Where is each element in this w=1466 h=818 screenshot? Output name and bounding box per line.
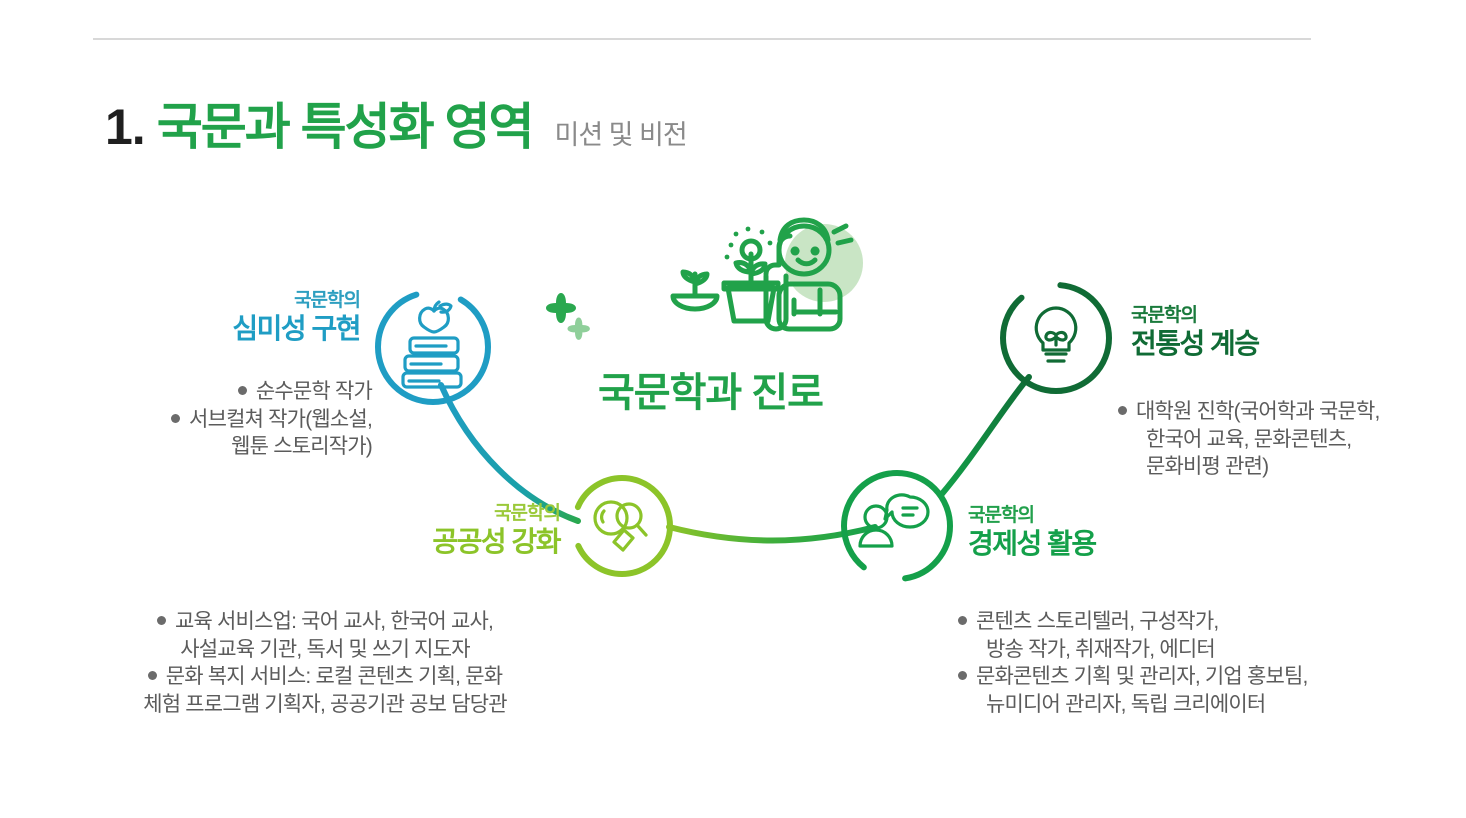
list-item: 서브컬쳐 작가(웹소설, 웹툰 스토리작가) (0, 406, 372, 461)
center-headline: 국문학과 진로 (598, 360, 823, 418)
bullet-dot-icon (958, 616, 967, 625)
list-item-text: 순수문학 작가 (256, 380, 372, 403)
lightbulb-icon (1036, 308, 1076, 361)
motion-line-2 (838, 240, 851, 243)
list-item-text: 교육 서비스업: 국어 교사, 한국어 교사, (175, 610, 493, 633)
list-item-text: 체험 프로그램 기획자, 공공기관 공보 담당관 (70, 691, 580, 719)
potted-flower-icon (724, 241, 778, 321)
list-aesthetic: 순수문학 작가 서브컬쳐 작가(웹소설, 웹툰 스토리작가) (0, 378, 372, 461)
bullet-dot-icon (1118, 406, 1127, 415)
node-label-aesthetic: 국문학의 심미성 구현 (160, 290, 360, 345)
list-public: 교육 서비스업: 국어 교사, 한국어 교사, 사설교육 기관, 독서 및 쓰기… (70, 608, 580, 719)
node-label-aesthetic-big: 심미성 구현 (160, 313, 360, 344)
node-label-public-small: 국문학의 (400, 503, 560, 524)
person-speech-bubble-icon (860, 495, 928, 546)
list-item-text: 문화콘텐츠 기획 및 관리자, 기업 홍보팀, (976, 665, 1308, 688)
list-item-text: 문화 복지 서비스: 로컬 콘텐츠 기획, 문화 (166, 665, 503, 688)
center-illustration (673, 220, 863, 329)
bullet-dot-icon (958, 671, 967, 680)
list-tradition: 대학원 진학(국어학과 국문학, 한국어 교육, 문화콘텐츠, 문화비평 관련) (1118, 398, 1466, 481)
node-label-aesthetic-small: 국문학의 (160, 290, 360, 311)
list-item: 대학원 진학(국어학과 국문학, 한국어 교육, 문화콘텐츠, 문화비평 관련) (1118, 398, 1466, 481)
node-public (574, 478, 670, 574)
node-label-public: 국문학의 공공성 강화 (400, 503, 560, 558)
list-item-text: 웹툰 스토리작가) (0, 433, 372, 461)
sparkle-large-icon (546, 293, 576, 323)
list-item-text: 문화비평 관련) (1118, 453, 1466, 481)
bullet-dot-icon (148, 671, 157, 680)
list-item: 순수문학 작가 (0, 378, 372, 406)
node-label-economy-big: 경제성 활용 (968, 528, 1228, 559)
connector-economy-tradition (941, 377, 1029, 495)
list-item-text: 콘텐츠 스토리텔러, 구성작가, (976, 610, 1218, 633)
node-label-tradition: 국문학의 전통성 계승 (1131, 305, 1391, 360)
bullet-dot-icon (157, 616, 166, 625)
node-label-tradition-big: 전통성 계승 (1131, 328, 1391, 359)
node-label-economy: 국문학의 경제성 활용 (968, 505, 1228, 560)
node-label-public-big: 공공성 강화 (400, 526, 560, 557)
node-tradition (1003, 285, 1109, 391)
sprout-icon (673, 272, 717, 309)
bullet-dot-icon (171, 414, 180, 423)
list-item: 교육 서비스업: 국어 교사, 한국어 교사, 사설교육 기관, 독서 및 쓰기… (70, 608, 580, 663)
list-item-text: 대학원 진학(국어학과 국문학, (1136, 400, 1380, 423)
list-item-text: 방송 작가, 취재작가, 에디터 (958, 636, 1438, 664)
node-label-tradition-small: 국문학의 (1131, 305, 1391, 326)
node-aesthetic (378, 292, 488, 402)
apple-on-books-icon (403, 302, 461, 387)
slide-canvas: 1. 국문과 특성화 영역 미션 및 비전 (0, 0, 1466, 818)
magnifier-icon (595, 502, 646, 550)
connector-aesthetic-public (441, 385, 578, 521)
node-economy (844, 473, 950, 579)
list-item-text: 사설교육 기관, 독서 및 쓰기 지도자 (70, 636, 580, 664)
list-item: 문화 복지 서비스: 로컬 콘텐츠 기획, 문화 체험 프로그램 기획자, 공공… (70, 663, 580, 718)
bullet-dot-icon (238, 386, 247, 395)
sparkle-small-icon (568, 318, 590, 340)
node-label-economy-small: 국문학의 (968, 505, 1228, 526)
list-item-text: 서브컬쳐 작가(웹소설, (189, 408, 372, 431)
list-item-text: 뉴미디어 관리자, 독립 크리에이터 (958, 691, 1438, 719)
list-item: 콘텐츠 스토리텔러, 구성작가, 방송 작가, 취재작가, 에디터 (958, 608, 1438, 663)
list-economy: 콘텐츠 스토리텔러, 구성작가, 방송 작가, 취재작가, 에디터 문화콘텐츠 … (958, 608, 1438, 719)
list-item: 문화콘텐츠 기획 및 관리자, 기업 홍보팀, 뉴미디어 관리자, 독립 크리에… (958, 663, 1438, 718)
list-item-text: 한국어 교육, 문화콘텐츠, (1118, 426, 1466, 454)
